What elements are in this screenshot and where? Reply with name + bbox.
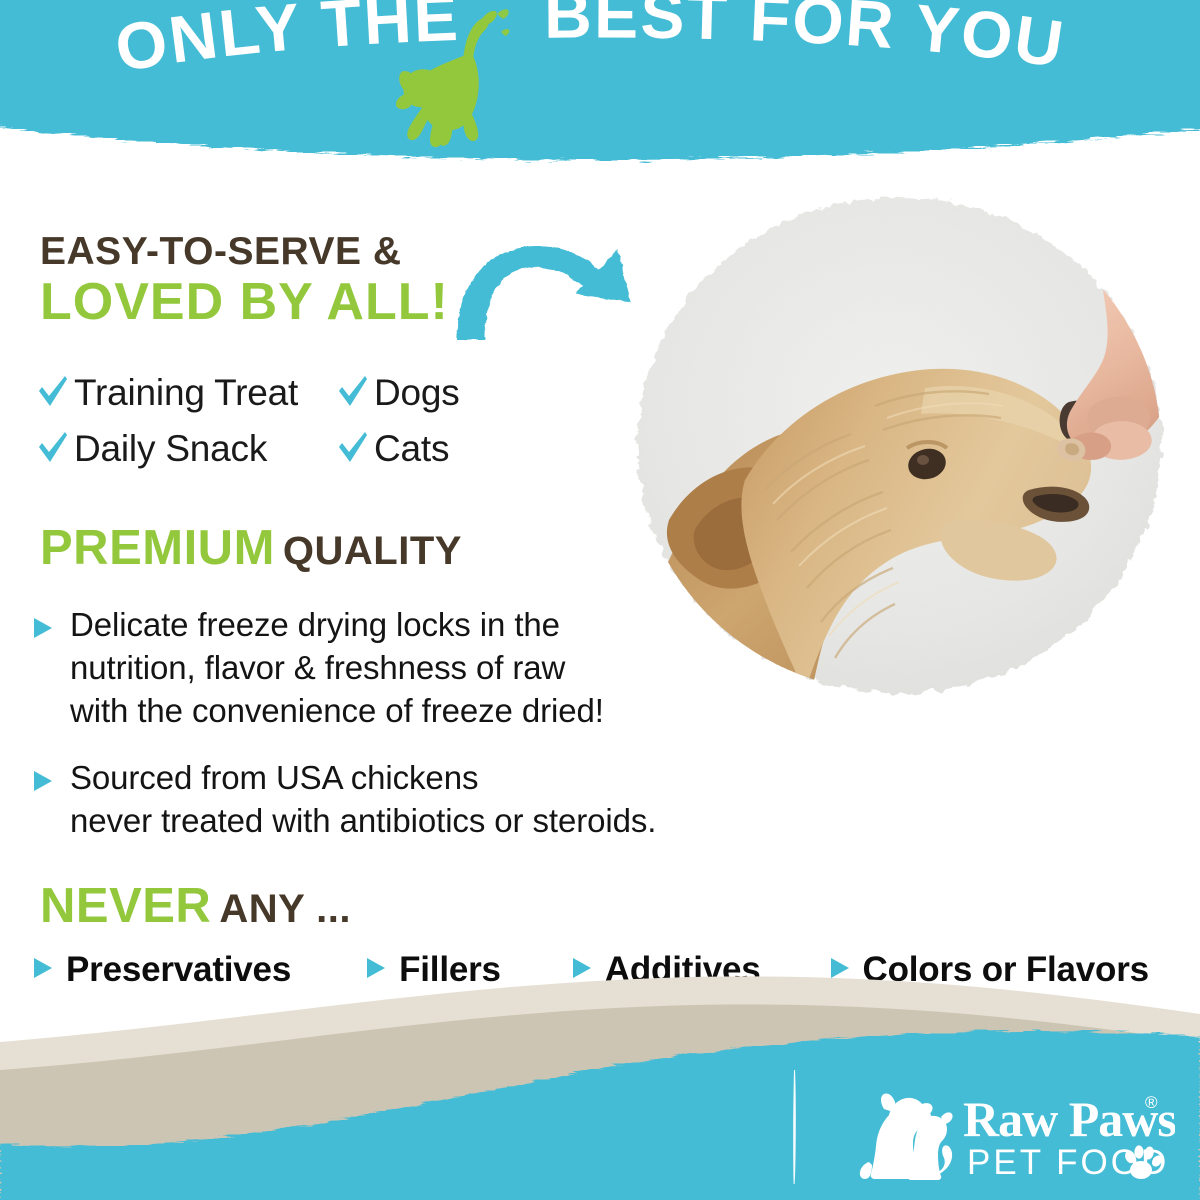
dog-and-cat-silhouette-icon bbox=[860, 1093, 953, 1180]
premium-heading-big: PREMIUM bbox=[40, 521, 275, 575]
check-item-training-treat: Training Treat bbox=[36, 372, 336, 414]
premium-bullet-2: Sourced from USA chickens never treated … bbox=[32, 757, 732, 843]
raw-paws-logo: Raw Paws ® PET FOOD bbox=[845, 1082, 1175, 1182]
premium-bullet-1: Delicate freeze drying locks in the nutr… bbox=[32, 604, 732, 733]
premium-heading-small: QUALITY bbox=[283, 529, 462, 573]
checkmark-icon bbox=[336, 372, 374, 414]
green-dog-silhouette-icon bbox=[385, 8, 515, 158]
checklist: Training Treat Dogs Daily Snack Cats bbox=[36, 372, 460, 470]
premium-bullet-text: Sourced from USA chickens never treated … bbox=[70, 757, 656, 843]
infographic-poster: ONLY THE BEST FOR YOUR PETS EASY-TO-SERV… bbox=[0, 0, 1200, 1200]
check-label: Dogs bbox=[374, 372, 460, 413]
logo-brand-name: Raw Paws bbox=[963, 1091, 1175, 1147]
logo-registered-mark: ® bbox=[1145, 1093, 1158, 1112]
check-item-dogs: Dogs bbox=[336, 372, 460, 414]
checkmark-icon bbox=[36, 372, 74, 414]
check-label: Cats bbox=[374, 428, 449, 469]
check-item-daily-snack: Daily Snack bbox=[36, 428, 336, 470]
vertical-divider-icon bbox=[792, 1068, 799, 1186]
premium-quality-heading: PREMIUMQUALITY bbox=[40, 524, 462, 573]
header-banner: ONLY THE BEST FOR YOUR PETS bbox=[0, 0, 1200, 168]
never-heading-big: NEVER bbox=[40, 879, 211, 933]
triangle-bullet-icon bbox=[32, 604, 70, 645]
checkmark-icon bbox=[336, 428, 374, 470]
checkmark-icon bbox=[36, 428, 74, 470]
header-banner-shape bbox=[0, 0, 1200, 168]
premium-bullet-text: Delicate freeze drying locks in the nutr… bbox=[70, 604, 604, 733]
check-item-cats: Cats bbox=[336, 428, 460, 470]
never-any-heading: NEVERANY ... bbox=[40, 882, 351, 931]
triangle-bullet-icon bbox=[32, 757, 70, 798]
premium-bullet-list: Delicate freeze drying locks in the nutr… bbox=[32, 604, 732, 866]
check-label: Daily Snack bbox=[74, 428, 267, 469]
check-label: Training Treat bbox=[74, 372, 298, 413]
never-heading-small: ANY ... bbox=[219, 887, 351, 931]
